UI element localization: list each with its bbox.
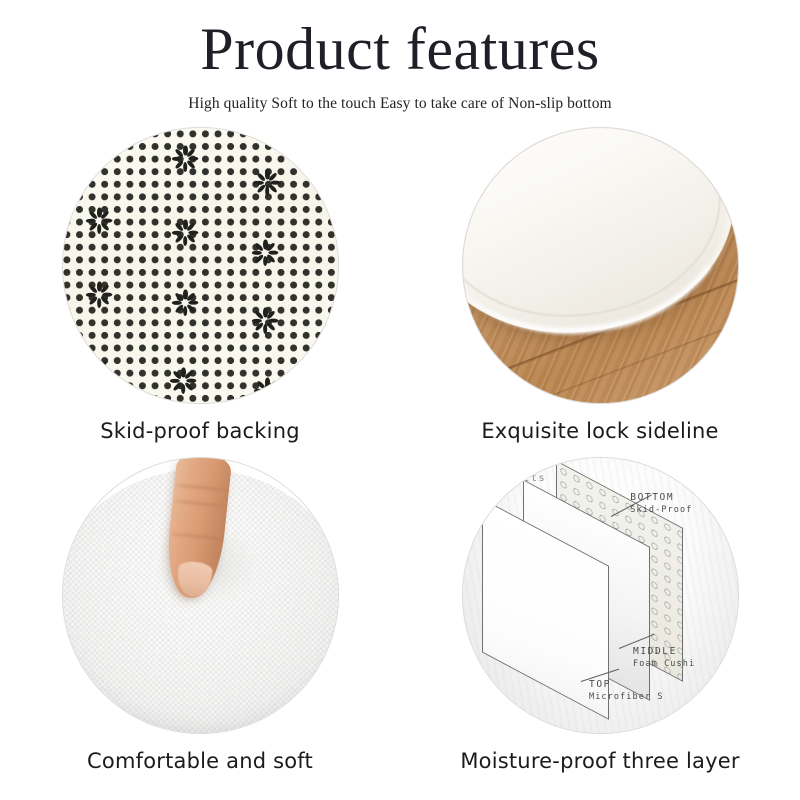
layer-material-label: Microfiber S bbox=[589, 692, 664, 703]
flower-motif-icon bbox=[171, 288, 201, 318]
feature-card-exquisite-lock-sideline: Exquisite lock sideline bbox=[400, 128, 800, 458]
feature-caption: Moisture-proof three layer bbox=[460, 749, 739, 773]
finger-crease bbox=[171, 533, 222, 541]
layer-position-label: TOP bbox=[589, 679, 664, 692]
page-subtitle: High quality Soft to the touch Easy to t… bbox=[0, 95, 800, 113]
three-layer-diagram-image: roducts BOTTOM Skid-Proof MIDDLE Foam Cu… bbox=[463, 458, 738, 733]
flower-motif-icon bbox=[83, 356, 113, 386]
layer-position-label: MIDDLE bbox=[633, 646, 695, 659]
feature-card-moisture-proof-three-layer: roducts BOTTOM Skid-Proof MIDDLE Foam Cu… bbox=[400, 458, 800, 788]
flower-motif-icon bbox=[251, 306, 281, 336]
layer-label-bottom: BOTTOM Skid-Proof bbox=[630, 492, 692, 516]
flower-motif-icon bbox=[253, 168, 283, 198]
feature-caption: Skid-proof backing bbox=[100, 419, 299, 443]
feature-card-skid-proof-backing: Skid-proof backing bbox=[0, 128, 400, 458]
flower-motif-icon bbox=[169, 366, 199, 396]
lock-sideline-image bbox=[463, 128, 738, 403]
features-grid: Skid-proof backing Exquisite lock sideli… bbox=[0, 128, 800, 788]
layer-position-label: BOTTOM bbox=[630, 492, 692, 505]
feature-card-comfortable-and-soft: Comfortable and soft bbox=[0, 458, 400, 788]
skid-proof-backing-image bbox=[63, 128, 338, 403]
layer-stage: roducts BOTTOM Skid-Proof MIDDLE Foam Cu… bbox=[463, 458, 738, 733]
layer-material-label: Skid-Proof bbox=[630, 505, 692, 516]
diagram-watermark: roducts bbox=[493, 473, 546, 484]
comfortable-soft-image bbox=[63, 458, 338, 733]
page-title: Product features bbox=[0, 18, 800, 81]
finger-crease bbox=[174, 500, 225, 508]
feature-caption: Exquisite lock sideline bbox=[481, 419, 718, 443]
flower-motif-icon bbox=[171, 218, 201, 248]
finger-crease bbox=[176, 484, 227, 492]
layer-material-label: Foam Cushi bbox=[633, 659, 695, 670]
layer-label-middle: MIDDLE Foam Cushi bbox=[633, 646, 695, 670]
feature-caption: Comfortable and soft bbox=[87, 749, 313, 773]
page-header: Product features High quality Soft to th… bbox=[0, 0, 800, 113]
flower-motif-icon bbox=[85, 280, 115, 310]
flower-motif-icon bbox=[253, 376, 283, 403]
flower-motif-icon bbox=[171, 144, 201, 174]
flower-motif-icon bbox=[251, 238, 281, 268]
flower-motif-icon bbox=[85, 206, 115, 236]
layer-label-top: TOP Microfiber S bbox=[589, 679, 664, 703]
